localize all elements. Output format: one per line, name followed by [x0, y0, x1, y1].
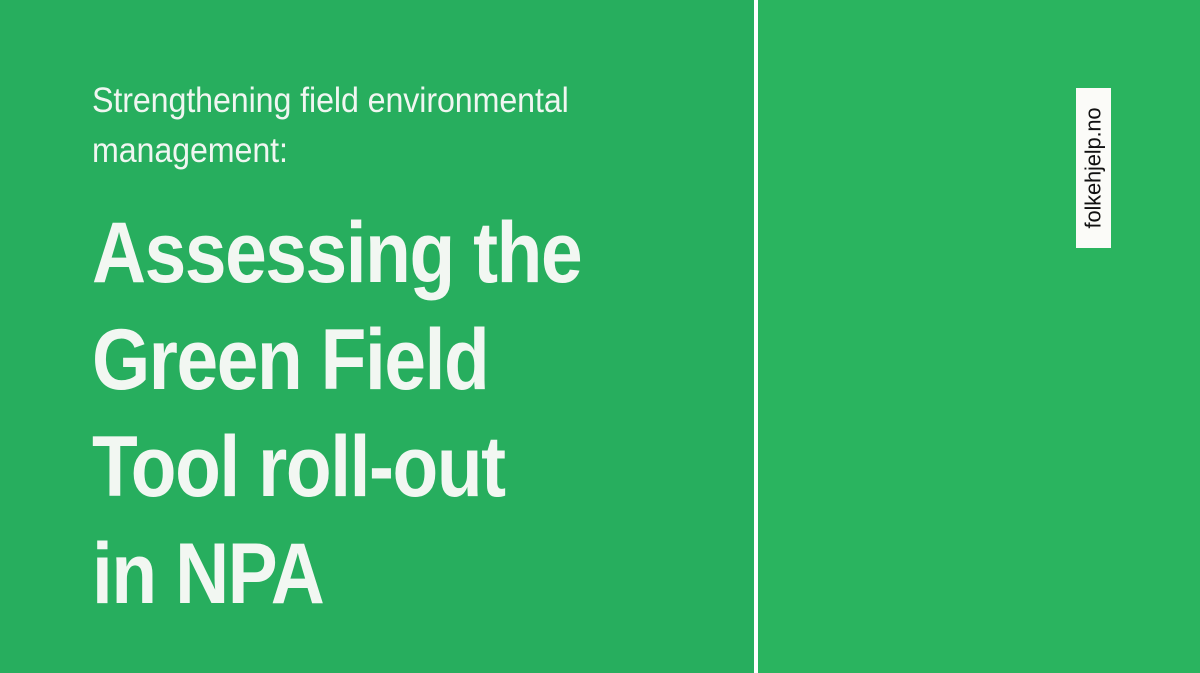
- vertical-divider: [754, 0, 758, 673]
- title-text-block: Strengthening field environmental manage…: [92, 76, 732, 628]
- website-url-badge[interactable]: folkehjelp.no: [1076, 88, 1111, 248]
- right-panel: [758, 0, 1200, 673]
- website-url-label: folkehjelp.no: [1083, 108, 1105, 229]
- slide-headline: Assessing the Green Field Tool roll-out …: [92, 176, 649, 628]
- title-slide: Strengthening field environmental manage…: [0, 0, 1200, 673]
- slide-subtitle: Strengthening field environmental manage…: [92, 76, 681, 176]
